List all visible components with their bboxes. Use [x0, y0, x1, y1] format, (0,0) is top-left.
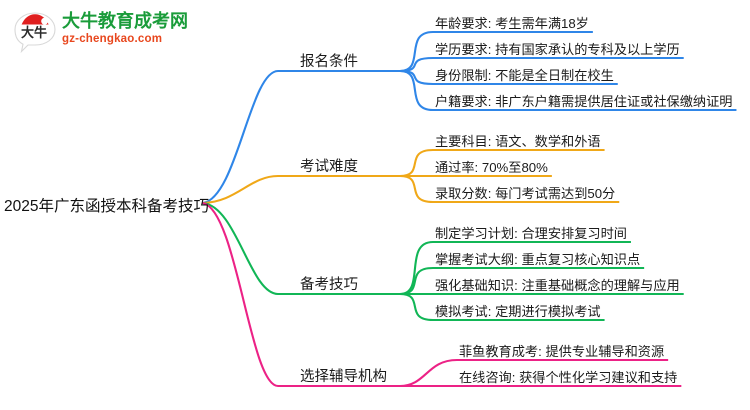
leaf-label-1-2: 学历要求: 持有国家承认的专科及以上学历 — [435, 39, 680, 58]
leaf-label-1-1: 年龄要求: 考生需年满18岁 — [435, 13, 589, 32]
leaf-label-3-1: 制定学习计划: 合理安排复习时间 — [435, 223, 627, 242]
leaf-label-2-1: 主要科目: 语文、数学和外语 — [435, 131, 601, 150]
branch-label-4: 选择辅导机构 — [300, 365, 387, 386]
branch-label-1: 报名条件 — [300, 50, 358, 71]
leaf-label-3-4: 模拟考试: 定期进行模拟考试 — [435, 301, 601, 320]
branch-label-2: 考试难度 — [300, 155, 358, 176]
leaf-label-3-2: 掌握考试大纲: 重点复习核心知识点 — [435, 249, 640, 268]
leaf-label-1-3: 身份限制: 不能是全日制在校生 — [435, 65, 614, 84]
leaf-label-3-3: 强化基础知识: 注重基础概念的理解与应用 — [435, 275, 680, 294]
leaf-label-2-3: 录取分数: 每门考试需达到50分 — [435, 183, 615, 202]
branch-label-3: 备考技巧 — [300, 273, 358, 294]
root-node-label: 2025年广东函授本科备考技巧 — [4, 194, 209, 216]
leaf-label-1-4: 户籍要求: 非广东户籍需提供居住证或社保缴纳证明 — [435, 91, 732, 110]
leaf-label-4-1: 菲鱼教育成考: 提供专业辅导和资源 — [459, 341, 664, 360]
leaf-label-2-2: 通过率: 70%至80% — [435, 157, 548, 176]
leaf-label-4-2: 在线咨询: 获得个性化学习建议和支持 — [459, 367, 677, 386]
